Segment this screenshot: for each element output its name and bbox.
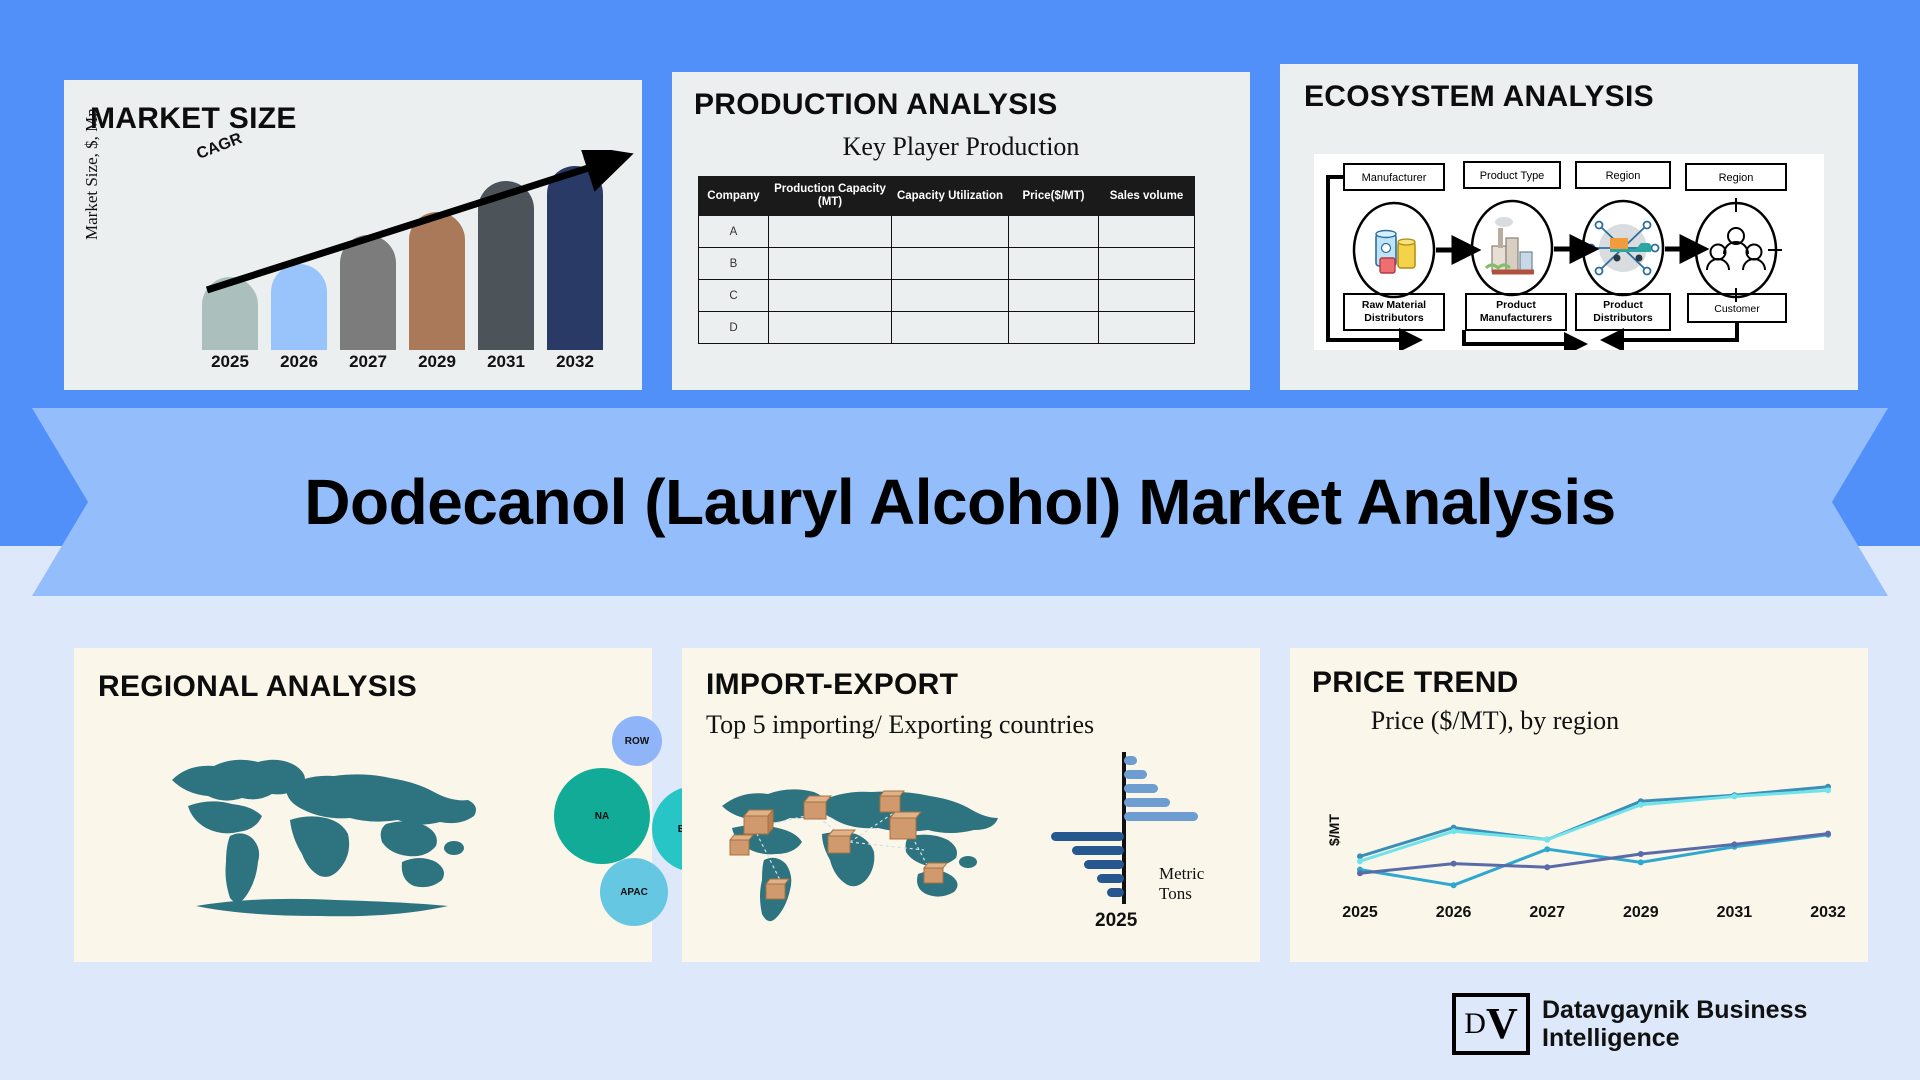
price-trend-point bbox=[1357, 870, 1363, 876]
price-trend-point bbox=[1825, 831, 1831, 837]
table-cell-capacity[interactable] bbox=[769, 280, 892, 312]
key-player-production-table: CompanyProduction Capacity (MT)Capacity … bbox=[698, 176, 1195, 344]
table-cell-price[interactable] bbox=[1009, 216, 1099, 248]
production-subtitle: Key Player Production bbox=[672, 132, 1250, 162]
table-cell-company[interactable]: D bbox=[699, 312, 769, 344]
eco-top-label-2: Region bbox=[1606, 170, 1641, 182]
tornado-unit-label: Metric Tons bbox=[1159, 864, 1237, 904]
price-trend-line bbox=[1360, 790, 1828, 861]
market-size-bar bbox=[340, 235, 396, 350]
price-trend-year-label: 2031 bbox=[1702, 904, 1766, 922]
table-cell-company[interactable]: A bbox=[699, 216, 769, 248]
price-trend-point bbox=[1825, 787, 1831, 793]
table-cell-sales[interactable] bbox=[1099, 280, 1195, 312]
import-export-title: IMPORT-EXPORT bbox=[706, 668, 958, 702]
price-trend-point bbox=[1451, 828, 1457, 834]
market-size-bar bbox=[202, 277, 258, 350]
logo-letter-v: V bbox=[1486, 1002, 1518, 1046]
price-trend-year-label: 2027 bbox=[1515, 904, 1579, 922]
price-trend-year-label: 2029 bbox=[1609, 904, 1673, 922]
import-export-tornado-chart: Metric Tons 2025 bbox=[1047, 752, 1237, 912]
market-size-x-axis: 202520262027202920312032 bbox=[202, 352, 634, 376]
tornado-bar-export bbox=[1051, 832, 1125, 841]
region-bubble-row[interactable]: ROW bbox=[612, 716, 662, 766]
region-bubble-apac[interactable]: APAC bbox=[600, 858, 668, 926]
logo-line-1: Datavgaynik Business bbox=[1542, 996, 1807, 1024]
market-size-year-label: 2031 bbox=[475, 352, 537, 372]
eco-bottom-label-2b: Distributors bbox=[1593, 312, 1653, 324]
table-cell-price[interactable] bbox=[1009, 280, 1099, 312]
tornado-year-label: 2025 bbox=[1095, 910, 1137, 932]
price-trend-year-label: 2026 bbox=[1422, 904, 1486, 922]
logo-text: Datavgaynik Business Intelligence bbox=[1542, 996, 1807, 1052]
market-size-bar bbox=[409, 212, 465, 350]
company-logo: DV Datavgaynik Business Intelligence bbox=[1452, 988, 1872, 1060]
table-column-header: Capacity Utilization bbox=[892, 177, 1009, 216]
table-column-header: Company bbox=[699, 177, 769, 216]
regional-title: REGIONAL ANALYSIS bbox=[98, 670, 417, 704]
world-map bbox=[154, 728, 494, 928]
tornado-bar-export bbox=[1107, 888, 1124, 897]
logo-mark-dv: DV bbox=[1452, 993, 1530, 1055]
eco-top-label-3: Region bbox=[1719, 172, 1754, 184]
table-column-header: Price($/MT) bbox=[1009, 177, 1099, 216]
price-trend-subtitle: Price ($/MT), by region bbox=[1350, 706, 1640, 736]
import-export-subtitle: Top 5 importing/ Exporting countries bbox=[706, 710, 1206, 740]
price-trend-year-label: 2032 bbox=[1796, 904, 1860, 922]
price-trend-year-label: 2025 bbox=[1328, 904, 1392, 922]
price-trend-title: PRICE TREND bbox=[1312, 666, 1519, 700]
tornado-bar-export bbox=[1084, 860, 1124, 869]
eco-top-label-1: Product Type bbox=[1480, 170, 1545, 182]
table-cell-company[interactable]: C bbox=[699, 280, 769, 312]
price-trend-x-axis: 202520262027202920312032 bbox=[1344, 904, 1844, 926]
eco-bottom-label-2a: Product bbox=[1603, 299, 1643, 311]
price-trend-point bbox=[1544, 846, 1550, 852]
market-size-bar bbox=[271, 264, 327, 350]
table-row[interactable]: C bbox=[699, 280, 1195, 312]
price-trend-point bbox=[1544, 864, 1550, 870]
table-row[interactable]: B bbox=[699, 248, 1195, 280]
price-trend-point bbox=[1544, 837, 1550, 843]
market-size-bar bbox=[547, 166, 603, 350]
price-trend-y-axis-label: $/MT bbox=[1326, 814, 1342, 846]
regional-analysis-panel: REGIONAL ANALYSIS NAEuropeAPACROW bbox=[74, 648, 652, 962]
eco-bottom-label-1b: Manufacturers bbox=[1480, 312, 1553, 324]
table-cell-sales[interactable] bbox=[1099, 248, 1195, 280]
price-trend-point bbox=[1451, 861, 1457, 867]
market-size-year-label: 2029 bbox=[406, 352, 468, 372]
production-analysis-panel: PRODUCTION ANALYSIS Key Player Productio… bbox=[672, 72, 1250, 390]
market-size-bars bbox=[202, 158, 634, 350]
price-trend-point bbox=[1451, 882, 1457, 888]
eco-top-label-0: Manufacturer bbox=[1362, 172, 1427, 184]
production-title: PRODUCTION ANALYSIS bbox=[694, 88, 1058, 122]
table-row[interactable]: D bbox=[699, 312, 1195, 344]
table-cell-company[interactable]: B bbox=[699, 248, 769, 280]
table-cell-utilization[interactable] bbox=[892, 216, 1009, 248]
market-size-year-label: 2025 bbox=[199, 352, 261, 372]
price-trend-panel: PRICE TREND Price ($/MT), by region $/MT… bbox=[1290, 648, 1868, 962]
trade-flow-map bbox=[702, 758, 1032, 928]
table-cell-sales[interactable] bbox=[1099, 216, 1195, 248]
market-size-year-label: 2032 bbox=[544, 352, 606, 372]
table-column-header: Production Capacity (MT) bbox=[769, 177, 892, 216]
price-trend-point bbox=[1731, 841, 1737, 847]
market-size-year-label: 2026 bbox=[268, 352, 330, 372]
table-cell-price[interactable] bbox=[1009, 248, 1099, 280]
title-banner: Dodecanol (Lauryl Alcohol) Market Analys… bbox=[32, 408, 1888, 596]
table-cell-sales[interactable] bbox=[1099, 312, 1195, 344]
ecosystem-analysis-panel: ECOSYSTEM ANALYSIS Manufacturer Product … bbox=[1280, 64, 1858, 390]
market-size-year-label: 2027 bbox=[337, 352, 399, 372]
table-cell-capacity[interactable] bbox=[769, 248, 892, 280]
table-cell-capacity[interactable] bbox=[769, 312, 892, 344]
price-trend-point bbox=[1638, 851, 1644, 857]
table-header-row: CompanyProduction Capacity (MT)Capacity … bbox=[699, 177, 1195, 216]
logo-line-2: Intelligence bbox=[1542, 1024, 1807, 1052]
tornado-bar-import bbox=[1124, 770, 1147, 779]
table-cell-price[interactable] bbox=[1009, 312, 1099, 344]
eco-bottom-label-0a: Raw Material bbox=[1362, 299, 1426, 311]
market-size-bar bbox=[478, 181, 534, 350]
eco-bottom-label-3: Customer bbox=[1714, 303, 1760, 315]
price-trend-point bbox=[1638, 859, 1644, 865]
table-cell-utilization[interactable] bbox=[892, 280, 1009, 312]
market-size-y-axis-label: Market Size, $, Mn bbox=[82, 108, 102, 240]
tornado-bar-import bbox=[1124, 798, 1170, 807]
table-cell-capacity[interactable] bbox=[769, 216, 892, 248]
ecosystem-title: ECOSYSTEM ANALYSIS bbox=[1304, 80, 1654, 114]
table-cell-utilization[interactable] bbox=[892, 248, 1009, 280]
region-bubble-na[interactable]: NA bbox=[554, 768, 650, 864]
tornado-bar-import bbox=[1124, 812, 1198, 821]
import-export-panel: IMPORT-EXPORT Top 5 importing/ Exporting… bbox=[682, 648, 1260, 962]
eco-bottom-label-0b: Distributors bbox=[1364, 312, 1424, 324]
market-size-title: MARKET SIZE bbox=[90, 102, 297, 136]
tornado-bar-export bbox=[1072, 846, 1125, 855]
eco-bottom-label-1a: Product bbox=[1496, 299, 1536, 311]
price-trend-point bbox=[1731, 793, 1737, 799]
logo-letter-d: D bbox=[1464, 1009, 1486, 1039]
page-title: Dodecanol (Lauryl Alcohol) Market Analys… bbox=[32, 408, 1888, 596]
ecosystem-diagram: Manufacturer Product Type Region Region bbox=[1314, 154, 1824, 350]
market-size-panel: MARKET SIZE Market Size, $, Mn CAGR 2025… bbox=[64, 80, 642, 390]
price-trend-lines bbox=[1344, 778, 1844, 898]
price-trend-point bbox=[1357, 858, 1363, 864]
tornado-bar-import bbox=[1124, 756, 1137, 765]
tornado-bar-export bbox=[1097, 874, 1124, 883]
tornado-bar-import bbox=[1124, 784, 1158, 793]
table-row[interactable]: A bbox=[699, 216, 1195, 248]
table-cell-utilization[interactable] bbox=[892, 312, 1009, 344]
price-trend-point bbox=[1638, 802, 1644, 808]
table-column-header: Sales volume bbox=[1099, 177, 1195, 216]
